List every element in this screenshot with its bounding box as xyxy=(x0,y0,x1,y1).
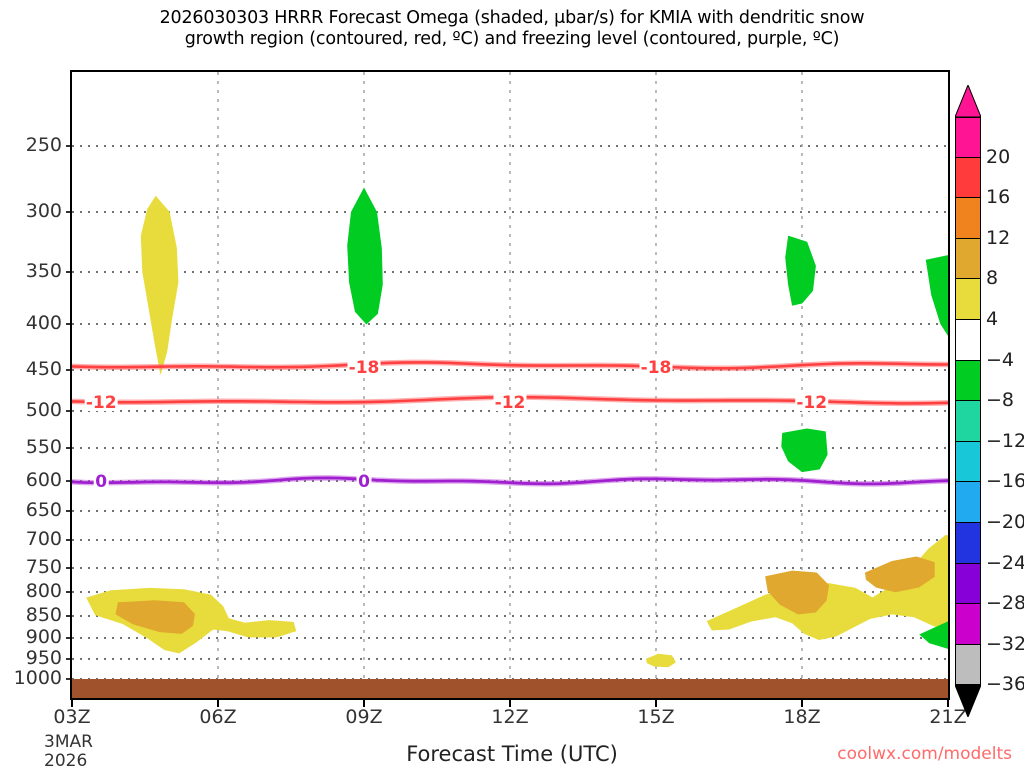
x-axis-tick-label: 03Z xyxy=(37,708,107,727)
colorbar-tick-label: −32 xyxy=(986,635,1024,654)
plot-area: -18-18-12-12-1200 xyxy=(70,70,950,700)
x-axis-tick-label: 15Z xyxy=(621,708,691,727)
colorbar-tick-label: −4 xyxy=(986,351,1014,370)
colorbar-tick-label: 12 xyxy=(986,229,1010,248)
colorbar xyxy=(955,85,981,717)
y-axis-tick-label: 800 xyxy=(0,582,62,601)
colorbar-band xyxy=(955,523,981,564)
x-axis-tick-label: 18Z xyxy=(767,708,837,727)
colorbar-tick-label: 16 xyxy=(986,188,1010,207)
y-axis-tick-label: 250 xyxy=(0,136,62,155)
colorbar-band xyxy=(955,239,981,280)
colorbar-band xyxy=(955,401,981,442)
colorbar-tick-label: −12 xyxy=(986,432,1024,451)
y-axis-tick-label: 900 xyxy=(0,628,62,647)
colorbar-band xyxy=(955,442,981,483)
contour-label-freezing: 0 xyxy=(358,472,370,492)
omega-shaded-region xyxy=(786,236,816,305)
omega-shaded-region xyxy=(782,429,828,472)
omega-shaded-region xyxy=(116,601,195,634)
contour-label-dgz-upper: -18 xyxy=(641,358,672,378)
colorbar-band xyxy=(955,320,981,361)
colorbar-band xyxy=(955,279,981,320)
watermark: coolwx.com/modelts xyxy=(837,744,1012,764)
colorbar-band xyxy=(955,564,981,605)
plot-canvas: -18-18-12-12-1200 xyxy=(72,72,948,698)
colorbar-band xyxy=(955,604,981,645)
colorbar-top-arrow xyxy=(955,85,981,117)
colorbar-tick-label: 20 xyxy=(986,148,1010,167)
colorbar-band xyxy=(955,361,981,402)
y-axis-tick-label: 850 xyxy=(0,606,62,625)
contour-label-dgz-lower: -12 xyxy=(86,393,117,413)
chart-title: 2026030303 HRRR Forecast Omega (shaded, … xyxy=(0,8,1024,50)
colorbar-tick-label: 8 xyxy=(986,269,998,288)
contour-label-dgz-upper: -18 xyxy=(349,358,380,378)
x-axis-tick-label: 12Z xyxy=(475,708,545,727)
colorbar-bottom-arrow xyxy=(955,685,981,717)
chart-page: 2026030303 HRRR Forecast Omega (shaded, … xyxy=(0,0,1024,768)
colorbar-band xyxy=(955,158,981,199)
omega-shaded-region xyxy=(348,188,383,324)
contour-label-dgz-lower: -12 xyxy=(495,393,526,413)
colorbar-tick-label: −8 xyxy=(986,391,1014,410)
y-axis-tick-label: 500 xyxy=(0,401,62,420)
colorbar-tick-label: −24 xyxy=(986,554,1024,573)
plot-inner: -18-18-12-12-1200 xyxy=(72,72,948,698)
colorbar-tick-label: −20 xyxy=(986,513,1024,532)
colorbar-tick-label: 4 xyxy=(986,310,998,329)
y-axis-tick-label: 450 xyxy=(0,360,62,379)
y-axis-tick-label: 750 xyxy=(0,558,62,577)
x-axis-tick-label: 09Z xyxy=(329,708,399,727)
colorbar-tick-label: −28 xyxy=(986,594,1024,613)
colorbar-band xyxy=(955,645,981,686)
y-axis-tick-label: 950 xyxy=(0,649,62,668)
x-axis-tick-label: 06Z xyxy=(183,708,253,727)
colorbar-tick-label: −16 xyxy=(986,472,1024,491)
colorbar-band xyxy=(955,198,981,239)
y-axis-tick-label: 350 xyxy=(0,262,62,281)
y-axis-tick-label: 550 xyxy=(0,438,62,457)
y-axis-tick-label: 1000 xyxy=(0,669,62,688)
contour-label-dgz-lower: -12 xyxy=(796,393,827,413)
y-axis-tick-label: 600 xyxy=(0,471,62,490)
colorbar-tick-label: −36 xyxy=(986,675,1024,694)
y-axis-tick-label: 700 xyxy=(0,530,62,549)
colorbar-band xyxy=(955,117,981,158)
omega-shaded-region xyxy=(141,196,178,374)
y-axis-tick-label: 300 xyxy=(0,202,62,221)
y-axis-tick-label: 650 xyxy=(0,501,62,520)
omega-shaded-region xyxy=(646,654,675,667)
contour-label-freezing: 0 xyxy=(95,472,107,492)
y-axis-tick-label: 400 xyxy=(0,314,62,333)
colorbar-band xyxy=(955,482,981,523)
ground-band xyxy=(72,679,948,698)
